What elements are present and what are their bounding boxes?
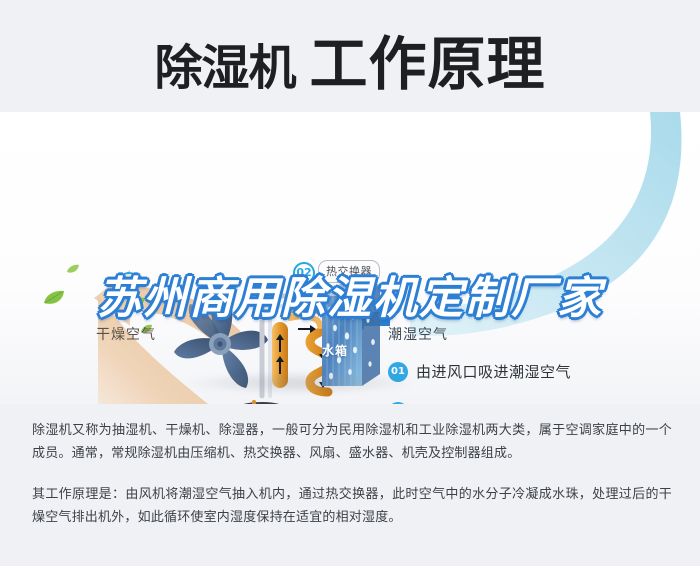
principle-legend: 01 由进风口吸进潮湿空气 02 潮湿空气经过蒸发器冷凝成水珠 03 从上部出风… bbox=[388, 358, 688, 404]
legend-item: 02 潮湿空气经过蒸发器冷凝成水珠 bbox=[388, 398, 688, 404]
machine-ground-shadow bbox=[185, 372, 415, 394]
water-tank-label: 水箱 bbox=[322, 342, 348, 359]
page-title-part1: 除湿机 bbox=[154, 42, 295, 95]
humid-air-label: 潮湿空气 bbox=[388, 324, 448, 344]
description-paragraph-1: 除湿机又称为抽湿机、干燥机、除湿器，一般可分为民用除湿机和工业除湿机两大类，属于… bbox=[32, 418, 672, 464]
legend-item-label: 潮湿空气经过蒸发器冷凝成水珠 bbox=[416, 401, 633, 404]
description-text-block: 除湿机又称为抽湿机、干燥机、除湿器，一般可分为民用除湿机和工业除湿机两大类，属于… bbox=[32, 418, 672, 528]
page-title: 除湿机工作原理 bbox=[154, 26, 545, 108]
legend-item: 01 由进风口吸进潮湿空气 bbox=[388, 358, 688, 385]
legend-item-label: 由进风口吸进潮湿空气 bbox=[416, 361, 571, 382]
compressor-base bbox=[228, 400, 358, 404]
legend-item-number: 02 bbox=[388, 402, 408, 405]
page-title-part2: 工作原理 bbox=[310, 32, 546, 97]
dehumidifier-principle-diagram: 03 02 01 干燥空气 潮湿空气 热交换器 水箱 01 由进风口吸进潮湿空气… bbox=[0, 112, 700, 404]
watermark-text: 苏州商用除湿机定制厂家 bbox=[0, 262, 700, 326]
description-paragraph-2: 其工作原理是：由风机将潮湿空气抽入机内，通过热交换器，此时空气中的水分子冷凝成水… bbox=[32, 482, 672, 528]
dry-air-label: 干燥空气 bbox=[96, 324, 156, 344]
page-title-bar: 除湿机工作原理 bbox=[0, 26, 700, 106]
